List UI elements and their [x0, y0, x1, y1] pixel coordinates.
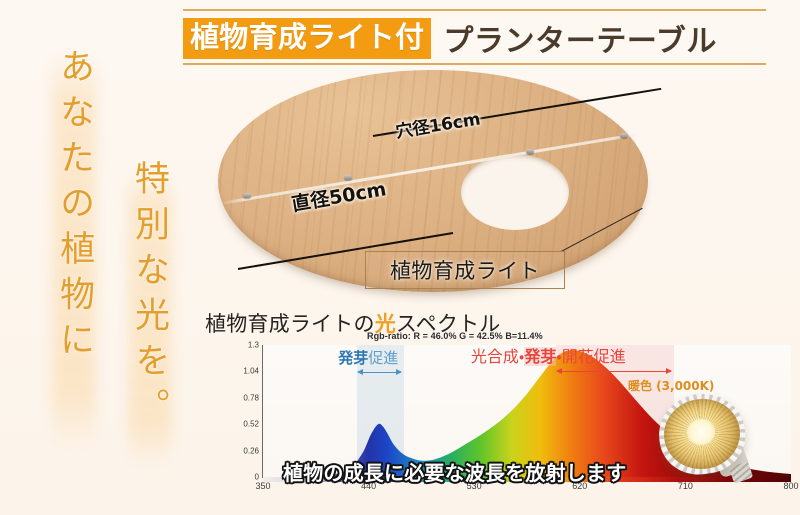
- annotation-germination: 発芽促進: [338, 351, 398, 366]
- grow-light-callout-label: 植物育成ライト: [390, 255, 540, 285]
- annotation-red-3: 開花促進: [562, 347, 626, 366]
- annotation-germination-bold: 発芽: [338, 349, 368, 367]
- x-tick-label: 800: [783, 481, 798, 491]
- annotation-germination-rest: 促進: [368, 349, 398, 367]
- screw-icon: [620, 133, 628, 138]
- annotation-red-1: 光合成: [471, 347, 519, 366]
- annotation-photosynthesis: 光合成・発芽・開花促進: [471, 349, 626, 365]
- y-tick-label: 1.04: [243, 367, 259, 376]
- table-center-hole: [461, 154, 569, 230]
- vertical-copy-line-1: あなたの植物に: [56, 48, 91, 367]
- vertical-copy-line-2: 特別な光を。: [131, 160, 166, 433]
- y-tick-label: 0.52: [243, 420, 259, 429]
- grow-light-callout: 植物育成ライト: [365, 251, 565, 289]
- header-title: 植物育成ライト付 プランターテーブル: [183, 17, 766, 59]
- y-tick-label: 1.3: [248, 341, 259, 350]
- screw-icon: [526, 149, 534, 154]
- chart-banner-text: 植物の成長に必要な波長を放射します: [283, 457, 626, 486]
- title-highlight: 植物育成ライト付: [183, 18, 431, 59]
- y-tick-label: 0.26: [243, 446, 259, 455]
- led-bulb-icon: [659, 392, 767, 488]
- y-tick-label: 0.78: [243, 393, 259, 402]
- x-tick-label: 350: [255, 481, 270, 491]
- chart-title-prefix: 植物育成ライトの: [205, 312, 375, 336]
- annotation-red-2: 発芽: [524, 347, 556, 366]
- screw-icon: [243, 193, 251, 198]
- title-rest: プランターテーブル: [443, 16, 717, 60]
- poster-canvas: あなたの植物に 特別な光を。 植物育成ライト付 プランターテーブル 穴径16cm…: [0, 0, 800, 515]
